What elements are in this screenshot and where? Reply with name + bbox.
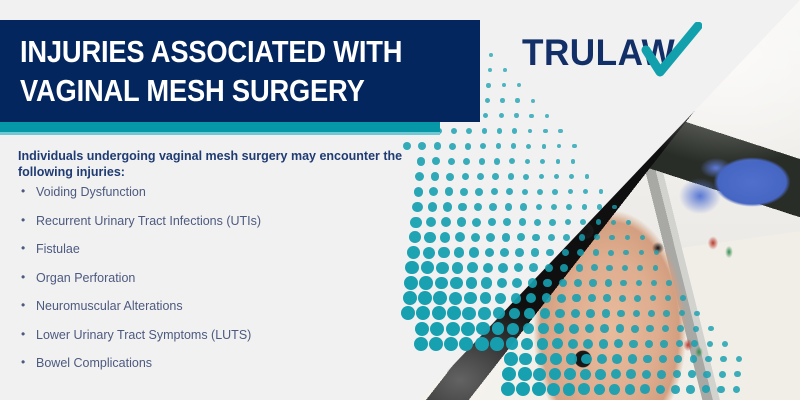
list-item: Organ Perforation — [18, 271, 418, 285]
list-item: Neuromuscular Alterations — [18, 299, 418, 313]
list-item: Recurrent Urinary Tract Infections (UTIs… — [18, 214, 418, 228]
list-item: Fistulae — [18, 242, 418, 256]
teal-accent-bar — [0, 122, 440, 132]
page-title: INJURIES ASSOCIATED WITH VAGINAL MESH SU… — [20, 32, 407, 110]
list-item: Bowel Complications — [18, 356, 418, 370]
trulaw-logo[interactable]: TRULAW — [522, 30, 683, 74]
list-item: Lower Urinary Tract Symptoms (LUTS) — [18, 328, 418, 342]
check-mark-icon — [640, 22, 702, 78]
list-item: Voiding Dysfunction — [18, 185, 418, 199]
infographic-canvas: INJURIES ASSOCIATED WITH VAGINAL MESH SU… — [0, 0, 800, 400]
intro-text: Individuals undergoing vaginal mesh surg… — [18, 148, 410, 180]
injury-list: Voiding DysfunctionRecurrent Urinary Tra… — [18, 185, 418, 385]
title-band: INJURIES ASSOCIATED WITH VAGINAL MESH SU… — [0, 20, 480, 122]
